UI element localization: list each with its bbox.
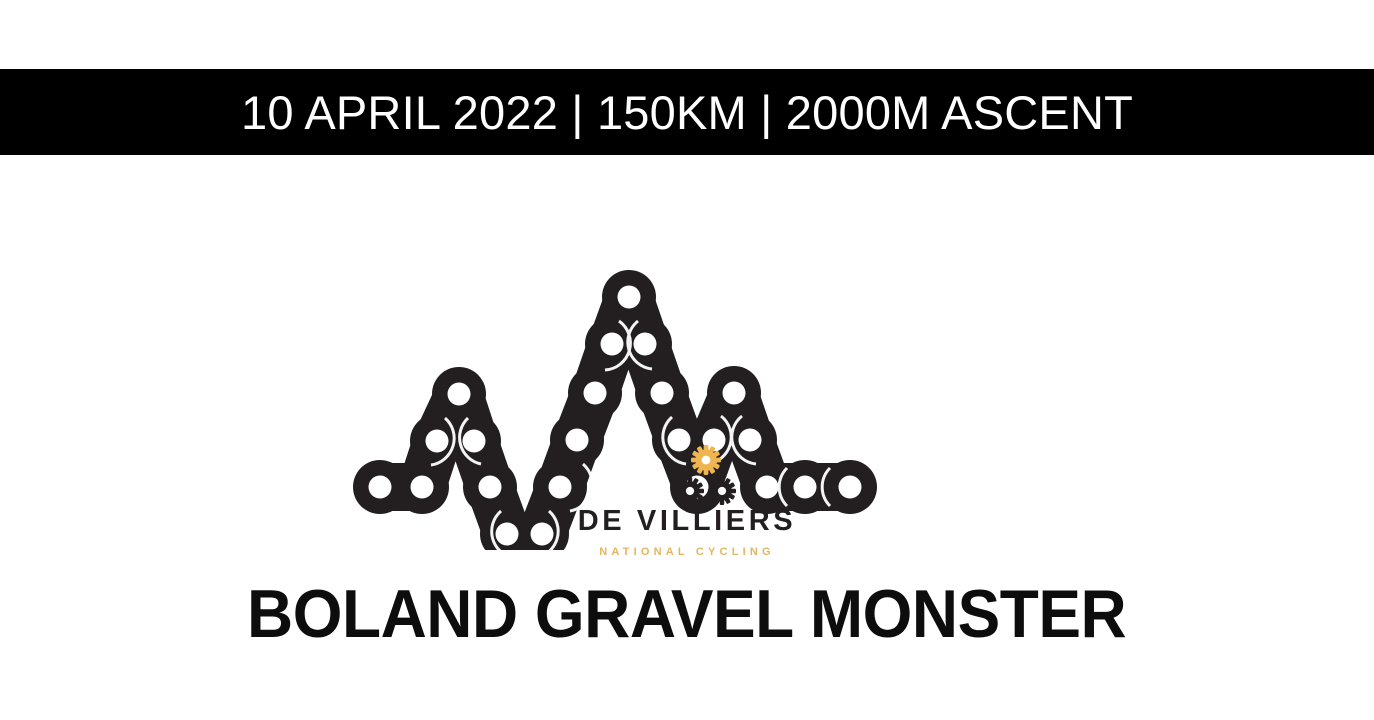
bottom-white-gutter [0,660,1374,720]
logo-stage: DE VILLIERS NATIONAL CYCLING BOLAND GRAV… [0,155,1374,720]
top-white-gutter [0,0,1374,69]
gear-cluster-icon [668,445,744,507]
brand-lockup: DE VILLIERS NATIONAL CYCLING [0,507,1374,558]
brand-tagline: NATIONAL CYCLING [0,547,1374,558]
event-info-text: 10 APRIL 2022 | 150KM | 2000M ASCENT [241,89,1133,136]
brand-name: DE VILLIERS [0,507,1374,536]
event-info-band: 10 APRIL 2022 | 150KM | 2000M ASCENT [0,69,1374,155]
gold-gear-icon [691,445,721,475]
event-title: BOLAND GRAVEL MONSTER [0,580,1374,648]
event-poster: 10 APRIL 2022 | 150KM | 2000M ASCENT [0,0,1374,720]
event-title-text: BOLAND GRAVEL MONSTER [247,580,1126,648]
dark-gear-right-icon [708,477,736,505]
dark-gear-left-icon [676,477,704,505]
